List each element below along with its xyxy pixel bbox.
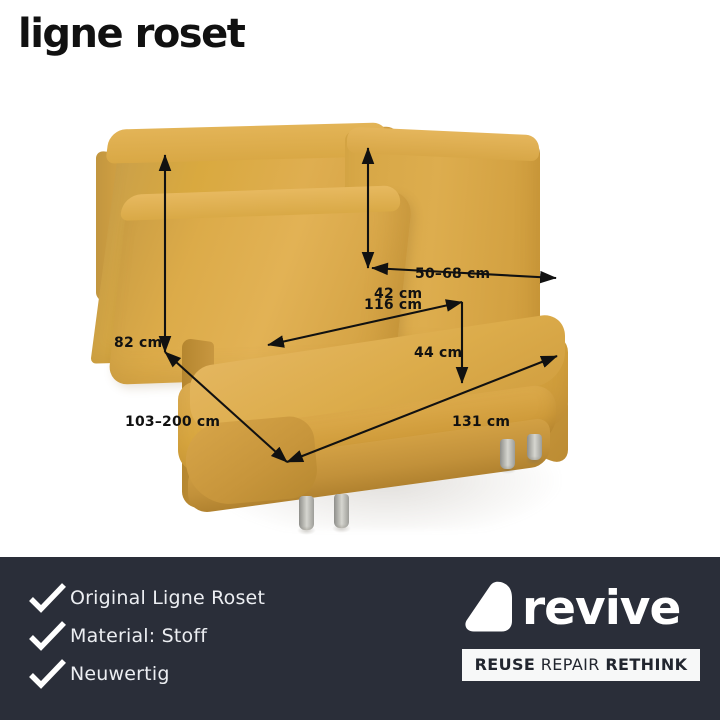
- tagline-reuse: REUSE: [475, 655, 536, 674]
- dim-label-116cm: 116 cm: [364, 297, 422, 313]
- feature-label: Original Ligne Roset: [70, 587, 265, 609]
- feature-item: Neuwertig: [26, 655, 265, 693]
- dim-label-131cm: 131 cm: [452, 414, 510, 430]
- feature-list: Original Ligne Roset Material: Stoff Neu…: [26, 579, 265, 693]
- footer-bar: Original Ligne Roset Material: Stoff Neu…: [0, 557, 720, 720]
- dimension-overlay: 82 cm 42 cm 50–68 cm 116 cm 44 cm 103–20…: [0, 90, 720, 557]
- tagline-rethink: RETHINK: [605, 655, 687, 674]
- dim-label-82cm: 82 cm: [114, 335, 162, 351]
- dim-label-103-200cm: 103–200 cm: [125, 414, 220, 430]
- dimension-lines: [0, 90, 720, 557]
- revive-branding: revive REUSE REPAIR RETHINK: [462, 575, 700, 681]
- dim-line-131cm: [287, 356, 557, 462]
- revive-logo-mark: [462, 579, 516, 637]
- brand-wordmark: ligne roset: [18, 14, 244, 54]
- feature-label: Neuwertig: [70, 663, 170, 685]
- dim-line-103-200cm: [165, 352, 287, 462]
- feature-label: Material: Stoff: [70, 625, 207, 647]
- feature-item: Material: Stoff: [26, 617, 265, 655]
- dim-label-44cm: 44 cm: [414, 345, 462, 361]
- check-icon: [26, 619, 70, 653]
- revive-tagline: REUSE REPAIR RETHINK: [462, 649, 700, 681]
- check-icon: [26, 581, 70, 615]
- revive-wordmark: revive: [522, 585, 680, 632]
- revive-lockup: revive: [462, 575, 700, 641]
- feature-item: Original Ligne Roset: [26, 579, 265, 617]
- check-icon: [26, 657, 70, 691]
- tagline-repair: REPAIR: [541, 655, 600, 674]
- product-image: 82 cm 42 cm 50–68 cm 116 cm 44 cm 103–20…: [0, 90, 720, 557]
- dim-label-50-68cm: 50–68 cm: [415, 266, 490, 282]
